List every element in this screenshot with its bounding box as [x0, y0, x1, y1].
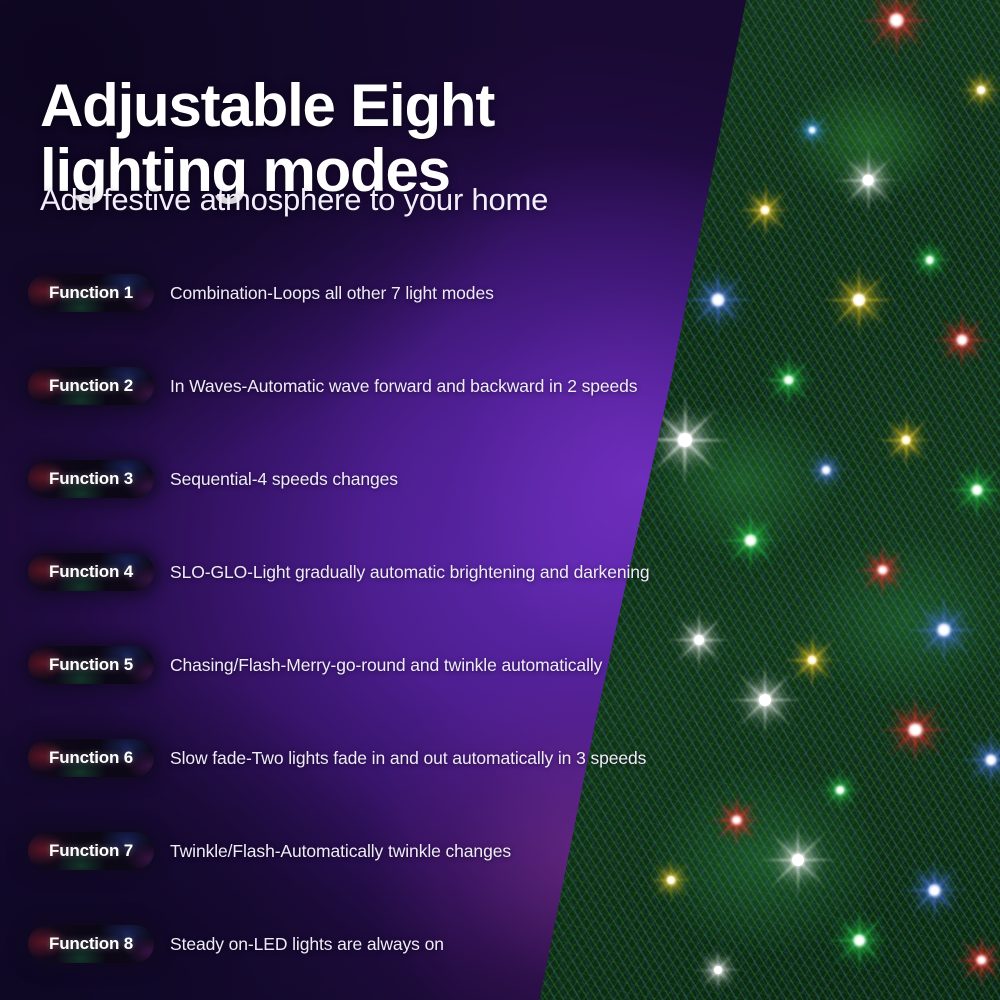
function-badge: Function 2 — [28, 367, 154, 405]
function-description: Twinkle/Flash-Automatically twinkle chan… — [170, 832, 511, 870]
function-badge-label: Function 8 — [28, 925, 154, 963]
function-description: In Waves-Automatic wave forward and back… — [170, 367, 637, 405]
function-badge: Function 1 — [28, 274, 154, 312]
function-row: Function 3Sequential-4 speeds changes — [0, 452, 700, 545]
promo-banner: Adjustable Eight lighting modes Add fest… — [0, 0, 1000, 1000]
page-subtitle: Add festive atmosphere to your home — [40, 182, 548, 218]
function-row: Function 1Combination-Loops all other 7 … — [0, 266, 700, 359]
function-badge-label: Function 7 — [28, 832, 154, 870]
function-badge-label: Function 5 — [28, 646, 154, 684]
function-badge: Function 6 — [28, 739, 154, 777]
function-row: Function 8Steady on-LED lights are alway… — [0, 917, 700, 1000]
function-description: Combination-Loops all other 7 light mode… — [170, 274, 494, 312]
function-description: Steady on-LED lights are always on — [170, 925, 444, 963]
headline-line-1: Adjustable Eight — [40, 72, 494, 139]
function-description: SLO-GLO-Light gradually automatic bright… — [170, 553, 650, 591]
function-description: Sequential-4 speeds changes — [170, 460, 398, 498]
function-row: Function 4SLO-GLO-Light gradually automa… — [0, 545, 700, 638]
function-row: Function 5Chasing/Flash-Merry-go-round a… — [0, 638, 700, 731]
function-description: Chasing/Flash-Merry-go-round and twinkle… — [170, 646, 602, 684]
function-row: Function 6Slow fade-Two lights fade in a… — [0, 731, 700, 824]
function-badge-label: Function 4 — [28, 553, 154, 591]
function-badge: Function 3 — [28, 460, 154, 498]
function-badge: Function 7 — [28, 832, 154, 870]
function-badge: Function 5 — [28, 646, 154, 684]
function-description: Slow fade-Two lights fade in and out aut… — [170, 739, 646, 777]
function-badge: Function 4 — [28, 553, 154, 591]
function-badge-label: Function 2 — [28, 367, 154, 405]
function-row: Function 7Twinkle/Flash-Automatically tw… — [0, 824, 700, 917]
function-badge-label: Function 3 — [28, 460, 154, 498]
function-row: Function 2In Waves-Automatic wave forwar… — [0, 359, 700, 452]
function-badge-label: Function 6 — [28, 739, 154, 777]
function-badge: Function 8 — [28, 925, 154, 963]
function-badge-label: Function 1 — [28, 274, 154, 312]
function-list: Function 1Combination-Loops all other 7 … — [0, 266, 700, 1000]
